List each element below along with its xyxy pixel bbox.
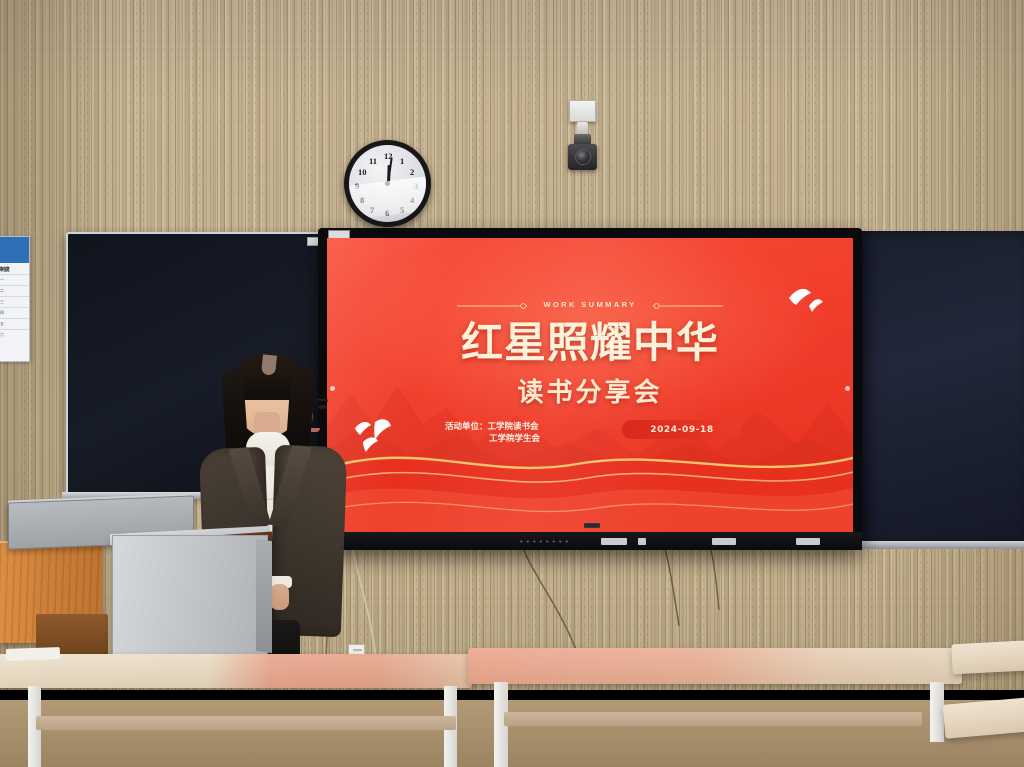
desk-top-far-right (951, 640, 1024, 675)
desk-book-shelf (504, 712, 922, 726)
poster-row-label: 五 (0, 321, 4, 327)
display-power-cables (515, 548, 725, 653)
floor-area (0, 700, 1024, 767)
wall-clock: 12 1 2 3 4 5 6 7 8 9 10 11 (344, 140, 431, 227)
slide-organizer-line1: 活动单位：工学院读书会 (445, 421, 645, 433)
clock-numeral: 11 (369, 156, 377, 166)
clock-face: 12 1 2 3 4 5 6 7 8 9 10 11 (349, 145, 426, 222)
poster-row: 五 (0, 318, 29, 329)
poster-row-label: 六 (0, 332, 4, 338)
clock-glare (349, 176, 426, 221)
dove-icon (785, 284, 831, 318)
slide-date-badge: 2024-09-18 (622, 420, 742, 439)
poster-row: 一 (0, 274, 29, 285)
display-bottom-bezel (318, 532, 862, 550)
slide-organizer-label: 活动单位： (445, 422, 488, 432)
interactive-flat-panel[interactable]: WORK SUMMARY 红星照耀中华 读书分享会 活动单位：工学院读书会 工学… (318, 228, 862, 550)
clock-numeral: 2 (410, 167, 414, 177)
slide-organizer-value2: 工学院学生会 (445, 433, 645, 445)
photo-scene: 制度 一 二 三 四 五 六 12 1 2 3 4 5 6 7 8 9 10 1… (0, 0, 1024, 767)
desk-top-surface (468, 648, 962, 684)
poster-title: 制度 (0, 263, 29, 274)
eyebrow-right (317, 399, 328, 402)
desk-screen-reflection (468, 648, 962, 684)
camera-lens-icon (575, 149, 591, 165)
hands (270, 584, 289, 610)
slide-organizer: 活动单位：工学院读书会 工学院学生会 (445, 421, 645, 445)
desk-leg (930, 682, 944, 742)
slide-date: 2024-09-18 (650, 425, 714, 435)
wall-camera-icon (568, 144, 597, 170)
speaker-grille (518, 539, 570, 544)
poster-row: 四 (0, 307, 29, 318)
bezel-label (638, 538, 646, 545)
desk-top-surface (0, 654, 472, 688)
blackboard-right-base (856, 541, 1024, 549)
slide-organizer-value1: 工学院读书会 (488, 422, 539, 432)
clock-numeral: 10 (358, 167, 367, 177)
slide-title: 红星照耀中华 (327, 318, 853, 368)
screen-right-indicator (845, 386, 850, 391)
poster-row-label: 二 (0, 288, 4, 294)
wall-poster: 制度 一 二 三 四 五 六 (0, 236, 30, 362)
poster-row: 三 (0, 296, 29, 307)
desk-book-shelf (36, 716, 456, 730)
bezel-label (712, 538, 736, 545)
bezel-label (601, 538, 627, 545)
poster-row: 六 (0, 329, 29, 340)
desk-screen-reflection (0, 654, 472, 688)
blackboard-right (856, 231, 1024, 547)
poster-header (0, 237, 29, 263)
poster-row-label: 一 (0, 277, 4, 283)
camera-mount-plate (569, 100, 596, 122)
slide-subtitle: 读书分享会 (327, 372, 853, 409)
bezel-label (796, 538, 820, 545)
lectern-body (112, 535, 268, 655)
clock-numeral: 1 (400, 156, 404, 166)
poster-row: 二 (0, 285, 29, 296)
ir-sensor-icon (584, 523, 600, 528)
poster-row-label: 三 (0, 299, 4, 305)
desk-paper-item (6, 647, 60, 661)
lectern-side-panel (256, 539, 272, 654)
poster-row-label: 四 (0, 310, 4, 316)
slide-eyebrow: WORK SUMMARY (327, 300, 853, 309)
display-screen[interactable]: WORK SUMMARY 红星照耀中华 读书分享会 活动单位：工学院读书会 工学… (327, 238, 853, 532)
eye-right (318, 405, 327, 409)
